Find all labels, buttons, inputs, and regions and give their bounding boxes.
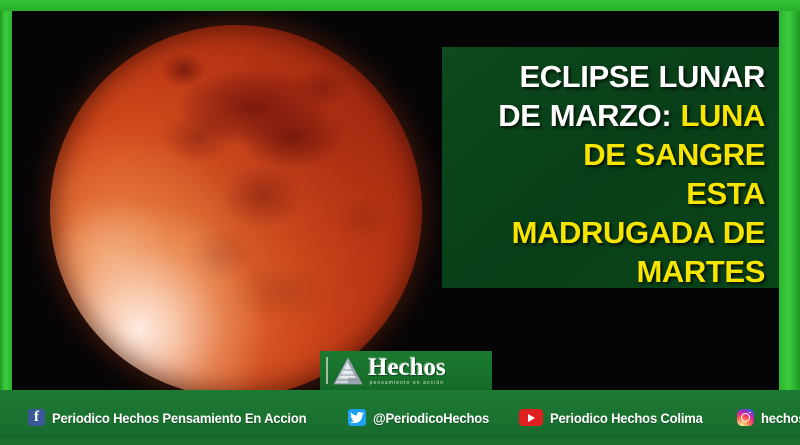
- headline-line-2-yellow: LUNA: [681, 98, 766, 133]
- hechos-logo: Hechos pensamiento en acción: [320, 351, 492, 390]
- blood-moon-image: [50, 25, 422, 390]
- frame-border-right: [779, 0, 800, 445]
- logo-text: Hechos pensamiento en acción: [368, 355, 446, 386]
- social-item-twitter[interactable]: @PeriodicoHechos: [348, 409, 498, 426]
- instagram-icon[interactable]: [737, 409, 754, 426]
- headline-text: ECLIPSE LUNAR DE MARZO: LUNA DE SANGRE E…: [454, 57, 765, 291]
- headline-line-5: MADRUGADA DE: [512, 215, 765, 250]
- logo-wordmark: Hechos: [368, 355, 446, 380]
- twitter-handle: @PeriodicoHechos: [373, 410, 489, 426]
- pyramid-icon: [333, 357, 363, 385]
- news-graphic-canvas: ECLIPSE LUNAR DE MARZO: LUNA DE SANGRE E…: [0, 0, 800, 445]
- headline-line-4: ESTA: [686, 176, 765, 211]
- youtube-icon[interactable]: [519, 409, 543, 426]
- social-item-facebook[interactable]: Periodico Hechos Pensamiento En Accion: [28, 409, 326, 426]
- facebook-handle: Periodico Hechos Pensamiento En Accion: [52, 410, 306, 426]
- headline-line-1: ECLIPSE LUNAR: [519, 59, 765, 94]
- frame-border-bottom: [0, 439, 800, 445]
- moon-limb-shading: [50, 25, 422, 390]
- social-bar: Periodico Hechos Pensamiento En Accion @…: [0, 390, 800, 445]
- frame-border-left: [0, 0, 12, 445]
- headline-panel: ECLIPSE LUNAR DE MARZO: LUNA DE SANGRE E…: [442, 47, 779, 288]
- facebook-icon[interactable]: [28, 409, 45, 426]
- youtube-handle: Periodico Hechos Colima: [550, 410, 703, 426]
- logo-divider: [326, 357, 328, 384]
- frame-border-top: [0, 0, 800, 11]
- headline-line-2-white: DE MARZO:: [498, 98, 680, 133]
- logo-tagline: pensamiento en acción: [368, 381, 446, 386]
- instagram-handle: hechoscolima: [761, 410, 800, 426]
- headline-line-3: DE SANGRE: [583, 137, 765, 172]
- social-item-instagram[interactable]: hechoscolima: [737, 409, 800, 426]
- twitter-icon[interactable]: [348, 409, 366, 426]
- social-item-youtube[interactable]: Periodico Hechos Colima: [519, 409, 714, 426]
- headline-line-6: MARTES: [637, 254, 766, 289]
